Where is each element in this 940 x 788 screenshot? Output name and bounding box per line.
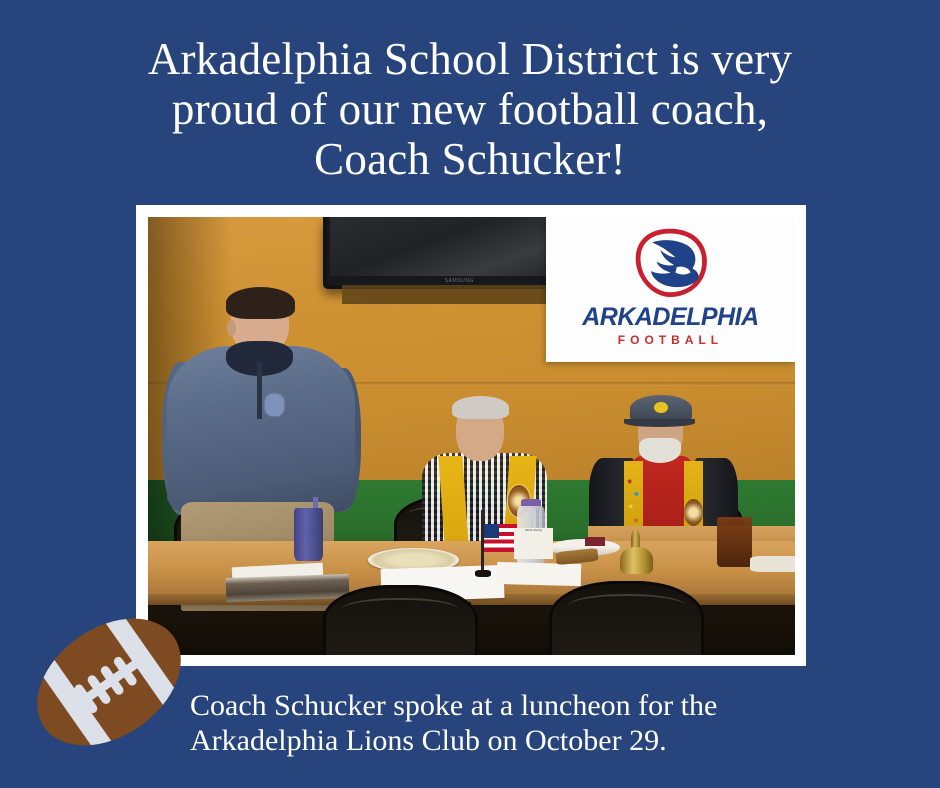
coach-zipper <box>257 362 262 420</box>
flag-base <box>475 570 491 577</box>
luncheon-photo: SAMSUNG ARKADELPHIA FOOTBALL <box>148 217 795 655</box>
coach-chest-logo <box>265 394 284 416</box>
member-hair <box>452 396 509 419</box>
flag-canton <box>484 524 498 539</box>
tv-wall-mount <box>342 285 562 304</box>
iced-tea-glass <box>717 517 752 567</box>
coach-hair <box>226 287 295 319</box>
napkin <box>497 562 582 586</box>
headline-line-3: Coach Schucker! <box>60 134 880 184</box>
cap-emblem <box>654 402 668 413</box>
badger-head-icon <box>612 226 729 301</box>
caption: Coach Schucker spoke at a luncheon for t… <box>190 688 890 758</box>
chair <box>549 581 704 655</box>
chair <box>323 585 478 655</box>
bottle-label: HD7L Penny <box>514 528 553 559</box>
place-card <box>585 537 606 547</box>
sign-subtitle: FOOTBALL <box>561 333 780 347</box>
caption-line-1: Coach Schucker spoke at a luncheon for t… <box>190 688 890 723</box>
caption-line-2: Arkadelphia Lions Club on October 29. <box>190 723 890 758</box>
binder <box>225 574 349 602</box>
headline-line-2: proud of our new football coach, <box>60 84 880 134</box>
serving-tray <box>750 556 795 571</box>
football-icon <box>28 592 190 772</box>
poster-canvas: Arkadelphia School District is very prou… <box>0 0 940 788</box>
photo-frame: SAMSUNG ARKADELPHIA FOOTBALL <box>136 205 806 666</box>
headline-line-1: Arkadelphia School District is very <box>60 34 880 84</box>
tv-brand-label: SAMSUNG <box>445 278 474 284</box>
blue-tumbler <box>294 508 324 561</box>
bell-body <box>620 547 652 574</box>
arkadelphia-football-sign: ARKADELPHIA FOOTBALL <box>546 217 795 362</box>
sign-wordmark: ARKADELPHIA <box>561 304 780 330</box>
chair-highlight <box>568 594 686 619</box>
chair-highlight <box>341 598 459 622</box>
page-title: Arkadelphia School District is very prou… <box>60 34 880 184</box>
coach-ear <box>227 320 236 336</box>
lions-club-bell <box>620 530 652 574</box>
